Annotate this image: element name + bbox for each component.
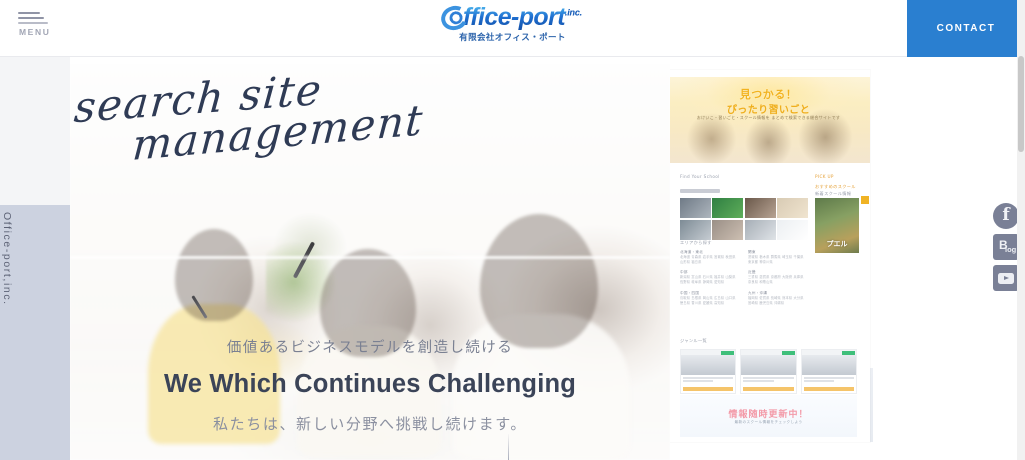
preview-card[interactable] xyxy=(680,349,736,394)
preview-card-line xyxy=(683,377,733,379)
social-links-rail: f B log xyxy=(993,203,1019,296)
preview-hero-title-2: ぴったり習いごと xyxy=(667,101,870,116)
preview-hero-title-1: 見つかる！ xyxy=(667,86,870,102)
preview-area-body: 北海道 青森県 岩手県 宮城県 秋田県 山形県 福島県 xyxy=(680,255,740,265)
hero-caption-jp-bottom: 私たちは、新しい分野へ挑戦し続けます。 xyxy=(70,413,670,434)
preview-thumb[interactable] xyxy=(745,198,776,218)
preview-card-header xyxy=(802,350,856,355)
hamburger-menu-icon[interactable]: MENU xyxy=(14,9,58,43)
logo-wordmark: ffice-port.inc. xyxy=(443,5,582,30)
preview-card-header xyxy=(741,350,795,355)
preview-promo-text: 情報随時更新中！ xyxy=(680,407,857,420)
preview-side-chip[interactable] xyxy=(861,196,869,204)
hero-caption-block: 価値あるビジネスモデルを創造し続ける We Which Continues Ch… xyxy=(70,336,670,434)
preview-card-image xyxy=(681,355,735,375)
hero-caption-jp-top: 価値あるビジネスモデルを創造し続ける xyxy=(70,336,670,357)
blog-icon[interactable]: B log xyxy=(993,234,1019,260)
preview-card-badge xyxy=(782,351,795,355)
hamburger-bar-3 xyxy=(18,22,48,24)
preview-area-body: 三重県 滋賀県 京都府 大阪府 兵庫県 奈良県 和歌山県 xyxy=(748,275,808,285)
preview-thumb[interactable] xyxy=(777,198,808,218)
preview-thumb[interactable] xyxy=(745,220,776,240)
preview-area-column: 北海道・東北 北海道 青森県 岩手県 宮城県 秋田県 山形県 福島県 xyxy=(680,250,740,265)
logo-subtitle: 有限会社オフィス・ポート xyxy=(383,31,643,43)
preview-card-text xyxy=(681,375,735,385)
site-header: MENU ffice-port.inc. 有限会社オフィス・ポート CONTAC… xyxy=(0,0,1025,57)
hero-section: search site management 価値あるビジネスモデルを創造し続け… xyxy=(70,64,670,460)
page-root: MENU ffice-port.inc. 有限会社オフィス・ポート CONTAC… xyxy=(0,0,1025,460)
preview-area-column: 近畿 三重県 滋賀県 京都府 大阪府 兵庫県 奈良県 和歌山県 xyxy=(748,270,808,285)
preview-card-text xyxy=(802,375,856,385)
preview-thumb[interactable] xyxy=(777,220,808,240)
preview-hero-banner: 見つかる！ ぴったり習いごと おけいこ・習いごと・スクール情報を まとめて検索で… xyxy=(667,77,870,163)
youtube-play-glyph xyxy=(998,273,1014,284)
preview-card-line xyxy=(804,380,834,382)
site-preview-panel[interactable]: 見つかる！ ぴったり習いごと おけいこ・習いごと・スクール情報を まとめて検索で… xyxy=(667,70,870,442)
preview-card-line xyxy=(743,380,773,382)
preview-label-pickup: PICK UP xyxy=(815,174,834,179)
preview-card-cta[interactable] xyxy=(804,387,854,391)
youtube-icon[interactable] xyxy=(993,265,1019,291)
preview-card-text xyxy=(741,375,795,385)
preview-area-column: 関東 茨城県 栃木県 群馬県 埼玉県 千葉県 東京都 神奈川県 xyxy=(748,250,808,265)
blog-letters-log: log xyxy=(1005,245,1016,254)
preview-thumb[interactable] xyxy=(712,198,743,218)
scroll-down-indicator xyxy=(508,434,509,460)
preview-thumbnail-grid xyxy=(680,198,808,240)
preview-card-line xyxy=(743,377,793,379)
preview-thumb[interactable] xyxy=(680,220,711,240)
preview-card-image xyxy=(802,355,856,375)
preview-card[interactable] xyxy=(801,349,857,394)
hamburger-bar-2 xyxy=(18,17,44,19)
preview-card-line xyxy=(683,380,713,382)
preview-label-side-sub: 新着スクール情報 xyxy=(815,191,851,197)
preview-thumb[interactable] xyxy=(680,198,711,218)
preview-label-area: エリアから探す xyxy=(680,240,712,246)
vertical-brand-text: Office-port,inc. xyxy=(1,212,13,306)
preview-card-line xyxy=(804,377,854,379)
preview-card-badge xyxy=(721,351,734,355)
preview-card[interactable] xyxy=(740,349,796,394)
preview-area-body: 福岡県 佐賀県 長崎県 熊本県 大分県 宮崎県 鹿児島県 沖縄県 xyxy=(748,296,808,306)
preview-area-column: 中国・四国 鳥取県 島根県 岡山県 広島県 山口県 徳島県 香川県 愛媛県 高知… xyxy=(680,291,740,306)
preview-promo-banner[interactable]: 情報随時更新中！ 最新のスクール情報をチェックしよう xyxy=(680,395,857,437)
blog-glyph: B log xyxy=(993,234,1019,260)
preview-area-column: 中部 新潟県 富山県 石川県 福井県 山梨県 長野県 岐阜県 静岡県 愛知県 xyxy=(680,270,740,285)
preview-category-tagbar xyxy=(680,189,720,193)
contact-button[interactable]: CONTACT xyxy=(907,0,1025,57)
site-logo[interactable]: ffice-port.inc. 有限会社オフィス・ポート xyxy=(383,5,643,43)
facebook-glyph: f xyxy=(1002,207,1009,224)
preview-label-pickup-bottom: ジャンル一覧 xyxy=(680,338,707,344)
preview-side-card[interactable]: プエル xyxy=(815,198,859,253)
page-scrollbar-thumb[interactable] xyxy=(1018,56,1024,152)
preview-area-body: 茨城県 栃木県 群馬県 埼玉県 千葉県 東京都 神奈川県 xyxy=(748,255,808,265)
preview-hero-description: おけいこ・習いごと・スクール情報を まとめて検索できる総合サイトです xyxy=(667,115,870,122)
preview-area-body: 鳥取県 島根県 岡山県 広島県 山口県 徳島県 香川県 愛媛県 高知県 xyxy=(680,296,740,306)
preview-label-side-heading: おすすめのスクール xyxy=(815,184,856,190)
preview-area-body: 新潟県 富山県 石川県 福井県 山梨県 長野県 岐阜県 静岡県 愛知県 xyxy=(680,275,740,285)
hamburger-bar-1 xyxy=(18,12,40,14)
preview-card-cta[interactable] xyxy=(743,387,793,391)
hero-child-head-left xyxy=(175,229,253,321)
hero-caption-en: We Which Continues Challenging xyxy=(70,370,670,399)
logo-main-text: ffice-port xyxy=(463,3,565,31)
facebook-icon[interactable]: f xyxy=(993,203,1019,229)
preview-side-card-text: プエル xyxy=(815,239,859,249)
menu-label: MENU xyxy=(19,27,50,37)
logo-inc-text: .inc. xyxy=(565,8,582,18)
preview-card-badge xyxy=(842,351,855,355)
preview-area-columns: 北海道・東北 北海道 青森県 岩手県 宮城県 秋田県 山形県 福島県 関東 茨城… xyxy=(680,250,808,306)
preview-area-column: 九州・沖縄 福岡県 佐賀県 長崎県 熊本県 大分県 宮崎県 鹿児島県 沖縄県 xyxy=(748,291,808,306)
preview-card-row xyxy=(680,349,857,394)
preview-label-find-school: Find Your School xyxy=(680,174,720,179)
preview-card-image xyxy=(741,355,795,375)
preview-card-header xyxy=(681,350,735,355)
preview-card-cta[interactable] xyxy=(683,387,733,391)
preview-thumb[interactable] xyxy=(712,220,743,240)
left-rail: Office-port,inc. xyxy=(0,57,70,460)
hero-haze-line xyxy=(70,256,670,259)
preview-promo-sub: 最新のスクール情報をチェックしよう xyxy=(680,420,857,425)
